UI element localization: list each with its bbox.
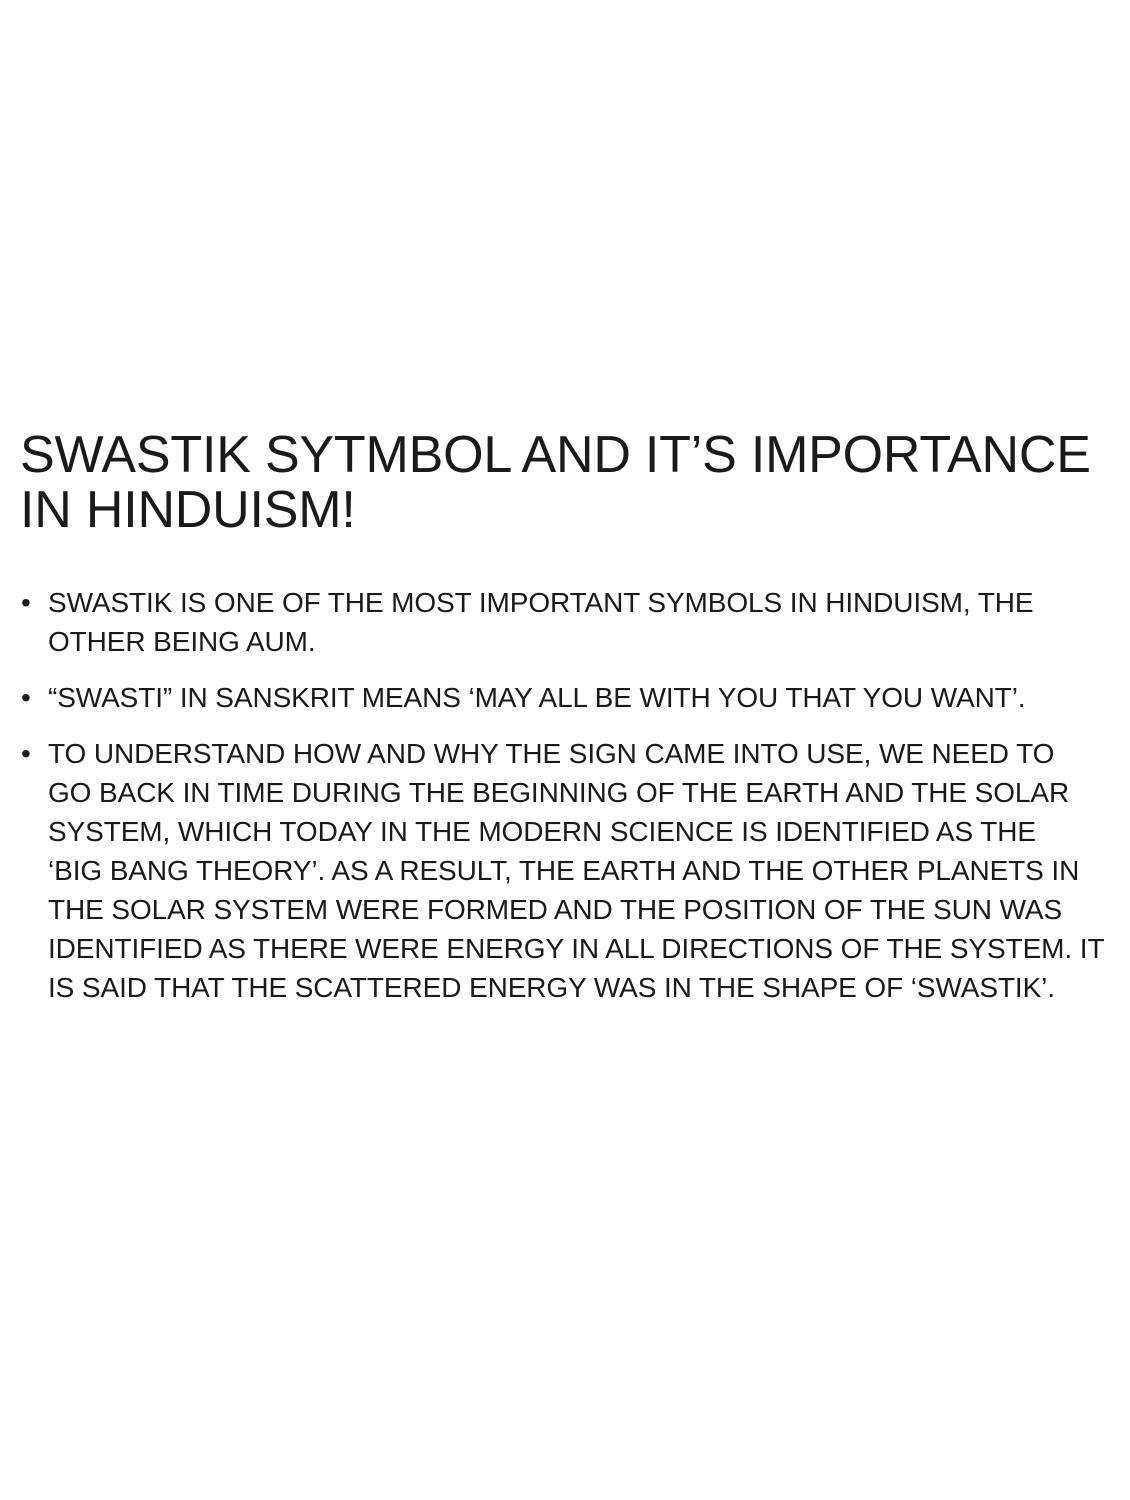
title-placeholder[interactable]: SWASTIK SYTMBOL AND IT’S IMPORTANCE IN H… — [20, 428, 1110, 538]
list-item[interactable]: • TO UNDERSTAND HOW AND WHY THE SIGN CAM… — [20, 734, 1110, 1007]
list-item-text: TO UNDERSTAND HOW AND WHY THE SIGN CAME … — [48, 734, 1110, 1007]
bullet-point-icon: • — [21, 678, 41, 717]
page-title: SWASTIK SYTMBOL AND IT’S IMPORTANCE IN H… — [20, 428, 1110, 538]
bullet-point-icon: • — [21, 583, 41, 622]
list-item[interactable]: • “SWASTI” IN SANSKRIT MEANS ‘MAY ALL BE… — [20, 678, 1110, 717]
list-item[interactable]: • SWASTIK IS ONE OF THE MOST IMPORTANT S… — [20, 583, 1110, 661]
list-item-text: “SWASTI” IN SANSKRIT MEANS ‘MAY ALL BE W… — [48, 678, 1110, 717]
slide-canvas: SWASTIK SYTMBOL AND IT’S IMPORTANCE IN H… — [0, 0, 1130, 1500]
bullet-point-icon: • — [21, 734, 41, 773]
body-placeholder[interactable]: • SWASTIK IS ONE OF THE MOST IMPORTANT S… — [20, 583, 1110, 1007]
list-item-text: SWASTIK IS ONE OF THE MOST IMPORTANT SYM… — [48, 583, 1110, 661]
bullet-list: • SWASTIK IS ONE OF THE MOST IMPORTANT S… — [20, 583, 1110, 1007]
